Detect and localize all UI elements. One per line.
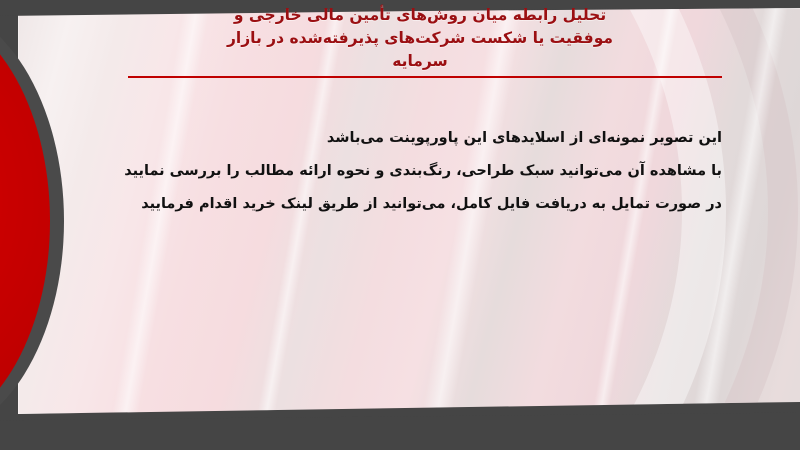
body-line-2: با مشاهده آن می‌توانید سبک طراحی، رنگ‌بن… [120, 155, 722, 188]
slide-title-line-1: تحلیل رابطه میان روش‌های تأمین مالی خارج… [110, 4, 730, 27]
body-line-1: این تصویر نمونه‌ای از اسلایدهای این پاور… [120, 122, 722, 155]
slide-title: تحلیل رابطه میان روش‌های تأمین مالی خارج… [110, 4, 730, 73]
slide-title-line-2: موفقیت یا شکست شرکت‌های پذیرفته‌شده در ب… [110, 27, 730, 50]
presentation-slide: تحلیل رابطه میان روش‌های تأمین مالی خارج… [0, 0, 800, 450]
slide-title-line-3: سرمایه [110, 50, 730, 73]
title-divider-line [128, 76, 722, 78]
body-line-3: در صورت تمایل به دریافت فایل کامل، می‌تو… [120, 188, 722, 221]
slide-body-text: این تصویر نمونه‌ای از اسلایدهای این پاور… [120, 122, 722, 221]
